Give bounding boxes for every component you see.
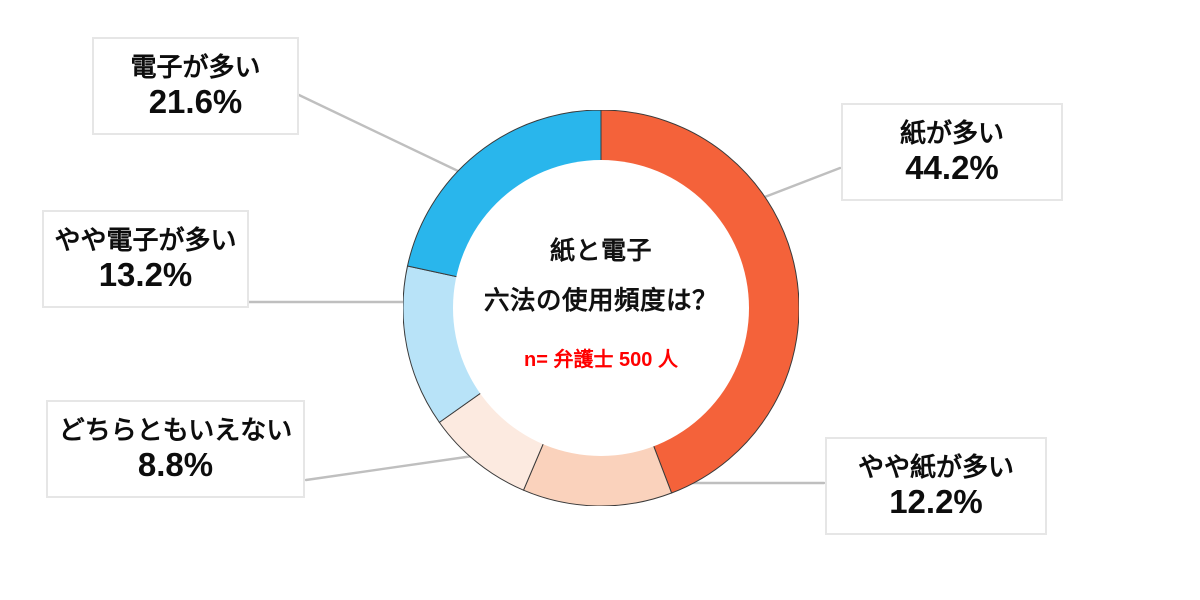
callout-denshi-value: 21.6% [149,84,243,120]
callout-dochira-caption: どちらともいえない [59,416,292,445]
donut-hole [453,160,749,456]
callout-yaya-denshi: やや電子が多い 13.2% [42,210,249,308]
callout-yaya-denshi-caption: やや電子が多い [54,226,236,255]
callout-yaya-kami: やや紙が多い 12.2% [825,437,1047,535]
donut-chart [403,110,799,506]
callout-kami-value: 44.2% [905,150,999,186]
callout-yaya-denshi-value: 13.2% [99,257,193,293]
callout-dochira: どちらともいえない 8.8% [46,400,305,498]
callout-denshi-caption: 電子が多い [130,53,260,82]
callout-kami-caption: 紙が多い [900,119,1004,148]
callout-yaya-kami-value: 12.2% [889,484,983,520]
callout-yaya-kami-caption: やや紙が多い [858,453,1014,482]
chart-canvas: 紙と電子 六法の使用頻度は？ n= 弁護士 500 人 電子が多い 21.6% … [0,0,1200,600]
callout-kami: 紙が多い 44.2% [841,103,1063,201]
callout-dochira-value: 8.8% [138,447,213,483]
callout-denshi: 電子が多い 21.6% [92,37,299,135]
